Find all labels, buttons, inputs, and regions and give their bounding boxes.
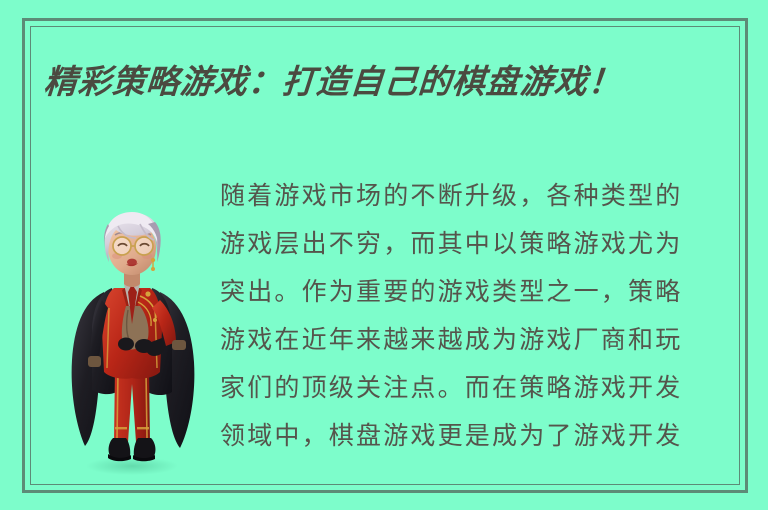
body-line: 游戏层出不穷，而其中以策略游戏尤为 [220,220,732,268]
page-title: 精彩策略游戏：打造自己的棋盘游戏！ [42,60,735,104]
body-line: 随着游戏市场的不断升级，各种类型的 [220,172,732,220]
body-line: 领域中，棋盘游戏更是成为了游戏开发 [220,412,732,460]
body-line: 突出。作为重要的游戏类型之一，策略 [220,268,732,316]
body-line: 游戏在近年来越来越成为游戏厂商和玩 [220,316,732,364]
poster-canvas: 精彩策略游戏：打造自己的棋盘游戏！ [0,0,768,510]
article-body: 随着游戏市场的不断升级，各种类型的 游戏层出不穷，而其中以策略游戏尤为 突出。作… [220,172,732,460]
character-illustration [52,180,212,475]
body-line: 家们的顶级关注点。而在策略游戏开发 [220,364,732,412]
